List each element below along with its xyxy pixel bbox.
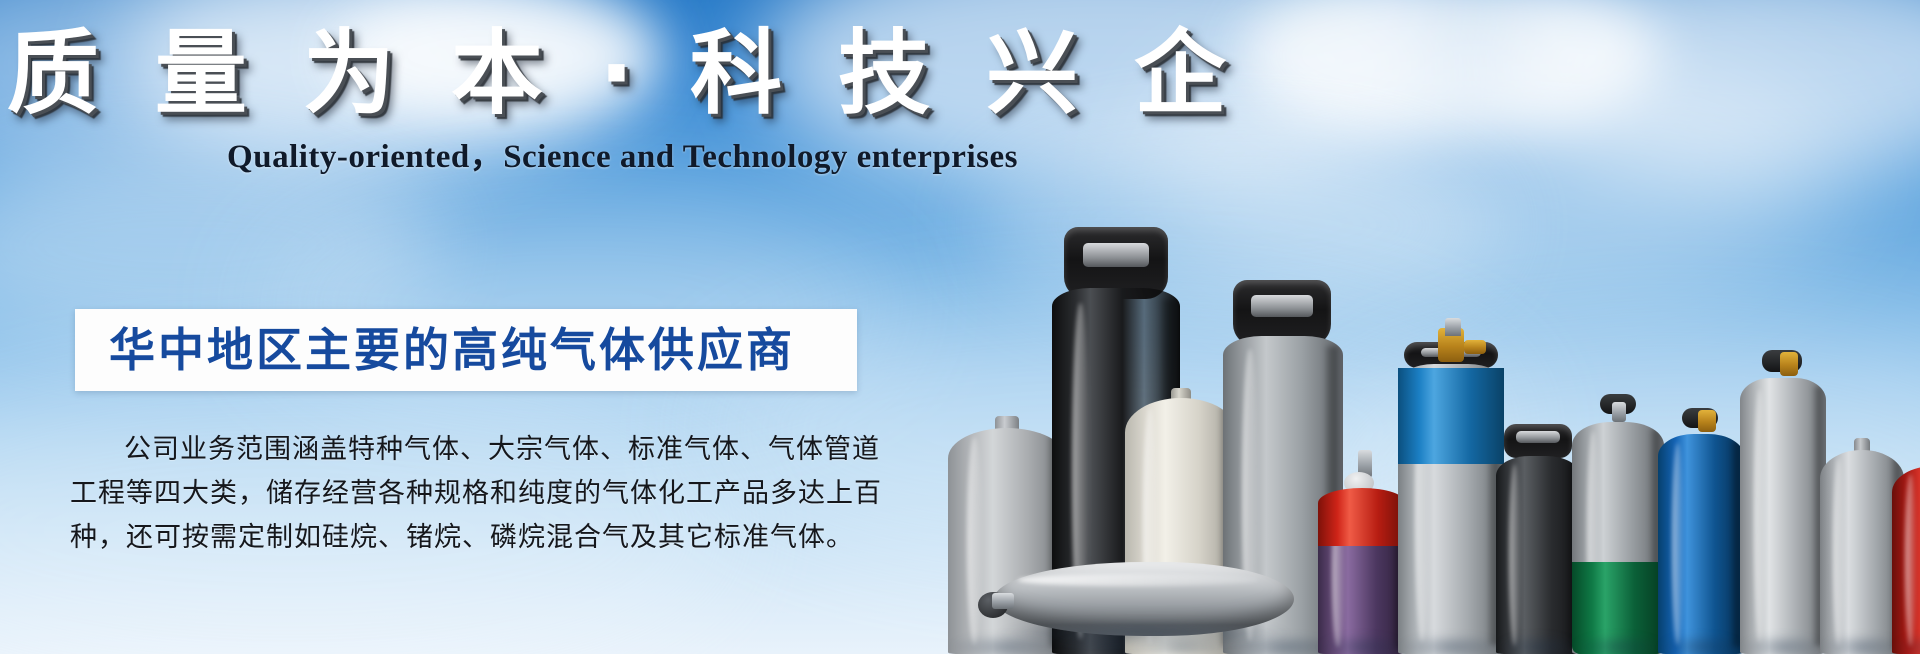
cylinder-lying-grey	[994, 562, 1294, 636]
cylinder-blue-silver	[1398, 324, 1504, 654]
gas-cylinder-cluster	[940, 134, 1920, 654]
valve-stem-icon	[1445, 318, 1461, 336]
brass-valve-icon	[1698, 410, 1716, 432]
valve-guard-icon	[1504, 424, 1572, 458]
brass-valve-outlet-icon	[1464, 340, 1486, 354]
body-line-2: 工程等四大类，储存经营各种规格和纯度的气体化工产品多达上百	[70, 472, 870, 516]
body-paragraph: 公司业务范围涵盖特种气体、大宗气体、标准气体、气体管道 工程等四大类，储存经营各…	[70, 428, 870, 560]
brass-valve-icon	[1780, 352, 1798, 376]
valve-icon	[992, 593, 1014, 609]
cylinder-blue-small	[1658, 410, 1744, 654]
promo-banner: 质 量 为 本 · 科 技 兴 企 Quality-oriented，Scien…	[0, 0, 1920, 654]
cylinder-dark-grey-small	[1496, 426, 1580, 654]
cylinder-red-purple	[1318, 464, 1406, 654]
cylinder-aluminium-tall	[1740, 354, 1826, 654]
body-line-1: 公司业务范围涵盖特种气体、大宗气体、标准气体、气体管道	[70, 428, 870, 472]
slogan-text: 华中地区主要的高纯气体供应商	[75, 325, 795, 375]
headline-chinese: 质 量 为 本 · 科 技 兴 企	[0, 18, 1245, 130]
valve-icon	[1612, 402, 1626, 422]
body-line-3: 种，还可按需定制如硅烷、锗烷、磷烷混合气及其它标准气体。	[70, 516, 870, 560]
slogan-plate: 华中地区主要的高纯气体供应商	[75, 309, 857, 391]
cylinder-red-short	[1892, 458, 1920, 654]
cylinder-green-base	[1572, 396, 1664, 654]
